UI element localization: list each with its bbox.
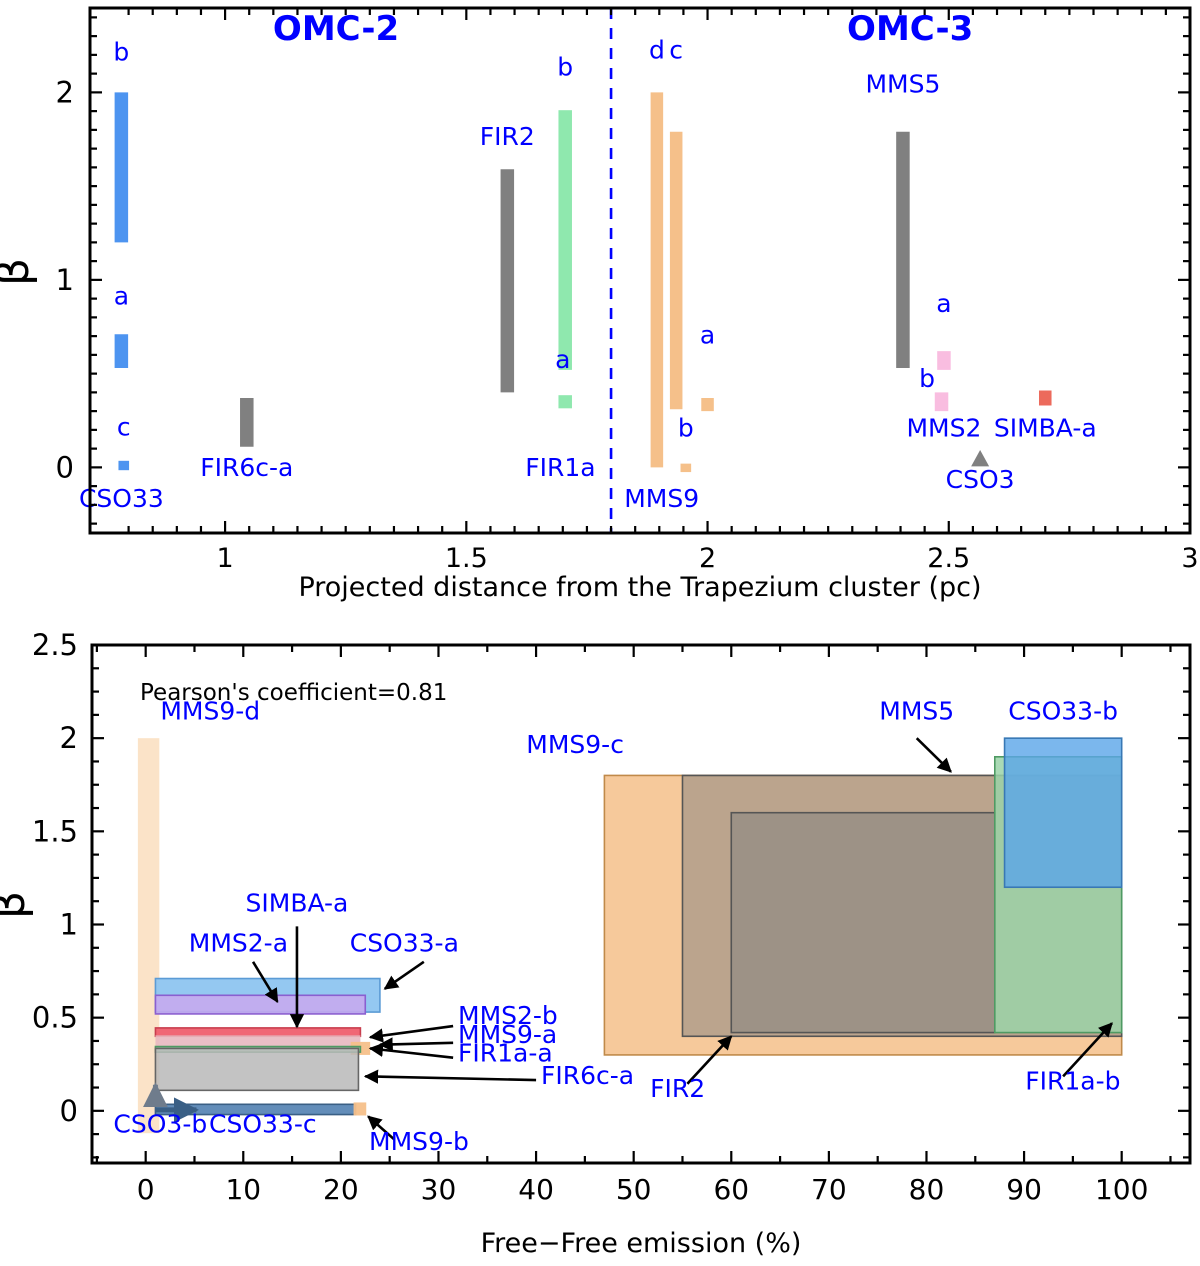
top-yticklabel: 1	[56, 263, 74, 297]
bottom-callout-label-mms5: MMS5	[879, 697, 954, 726]
bottom-xticklabel: 40	[518, 1173, 554, 1206]
top-component-label-2: c	[117, 413, 131, 442]
bottom-callout-label-mms9-c: MMS9-c	[526, 730, 624, 759]
top-component-label-3: b	[557, 53, 573, 82]
top-bar-fir1a-b	[558, 110, 572, 370]
top-component-label-9: a	[936, 289, 951, 318]
top-source-label-mms5: MMS5	[865, 69, 940, 98]
top-panel-xlabel: Projected distance from the Trapezium cl…	[298, 572, 981, 603]
top-source-label-cso3: CSO3	[946, 465, 1015, 494]
top-xticklabel: 1	[216, 543, 233, 574]
top-bar-cso33-b	[115, 92, 129, 242]
bottom-yticklabel: 1.5	[32, 814, 78, 848]
top-source-label-mms2: MMS2	[906, 413, 981, 442]
top-source-label-fir6c-a: FIR6c-a	[200, 453, 293, 482]
bottom-yticklabel: 2.5	[32, 628, 78, 662]
bottom-box-fir6c-a	[155, 1048, 358, 1090]
top-xticklabel: 2	[699, 543, 716, 574]
top-yticklabel: 2	[56, 75, 74, 109]
top-bar-cso33-c	[118, 461, 129, 470]
bottom-callout-label-fir1a-a: FIR1a-a	[458, 1038, 553, 1067]
top-panel-ylabel: β	[0, 258, 39, 286]
top-source-label-mms9: MMS9	[624, 484, 699, 513]
top-source-label-cso33: CSO33	[79, 484, 164, 513]
bottom-panel: MMS9-dMMS9-cMMS5CSO33-bSIMBA-aMMS2-aCSO3…	[0, 628, 1190, 1259]
top-bar-mms5	[896, 132, 910, 368]
bottom-box-cso33-b	[1005, 738, 1122, 887]
bottom-box-mms2-b	[155, 1035, 360, 1046]
top-component-label-8: b	[678, 413, 694, 442]
top-source-label-fir2: FIR2	[480, 122, 535, 151]
top-bar-mms9-c	[670, 132, 683, 410]
top-component-label-5: d	[649, 36, 665, 65]
figure-root: OMC-2OMC-3 CSO33FIR6c-aFIR1aFIR2MMS9MMS5…	[0, 0, 1200, 1266]
top-bar-simba-a	[1039, 391, 1052, 406]
bottom-callout-label-mms2-a: MMS2-a	[189, 929, 288, 958]
bottom-callout-label-cso33-a: CSO33-a	[350, 929, 459, 958]
top-component-label-4: a	[555, 345, 570, 374]
bottom-box-mms2-a	[155, 995, 365, 1014]
top-source-label-simba-a: SIMBA-a	[994, 413, 1097, 442]
region-label-omc-2: OMC-2	[273, 9, 399, 49]
bottom-yticklabel: 0	[60, 1094, 78, 1128]
bottom-callout-label-simba-a: SIMBA-a	[246, 888, 349, 917]
top-bar-mms9-b	[681, 464, 692, 472]
bottom-xticklabel: 100	[1095, 1173, 1148, 1206]
bottom-callout-label-fir1a-b: FIR1a-b	[1025, 1066, 1120, 1095]
bottom-xticklabel: 60	[713, 1173, 749, 1206]
bottom-callout-label-mms9-b: MMS9-b	[369, 1127, 469, 1156]
bottom-yticklabel: 1	[60, 907, 78, 941]
bottom-xticklabel: 90	[1006, 1173, 1042, 1206]
bottom-panel-xlabel: Free−Free emission (%)	[481, 1228, 802, 1259]
bottom-xticklabel: 20	[323, 1173, 359, 1206]
top-component-label-10: b	[919, 364, 935, 393]
top-component-label-6: c	[669, 36, 683, 65]
bottom-yticklabel: 2	[60, 721, 78, 755]
bottom-panel-ylabel: β	[0, 891, 35, 919]
bottom-box-fir2	[731, 813, 995, 1033]
top-panel: OMC-2OMC-3 CSO33FIR6c-aFIR1aFIR2MMS9MMS5…	[0, 8, 1199, 603]
top-bar-fir1a-a	[558, 395, 572, 408]
bottom-callout-label-fir2: FIR2	[650, 1074, 705, 1103]
scientific-figure: OMC-2OMC-3 CSO33FIR6c-aFIR1aFIR2MMS9MMS5…	[0, 0, 1200, 1266]
top-source-label-fir1a: FIR1a	[525, 453, 595, 482]
top-bar-fir2	[501, 169, 515, 392]
top-bar-cso33-a	[115, 334, 129, 368]
top-xticklabel: 2.5	[927, 543, 970, 574]
top-bar-mms2-a	[937, 351, 951, 370]
bottom-xticklabel: 80	[909, 1173, 945, 1206]
bottom-callout-label-cso3-b: CSO3-b	[113, 1109, 207, 1138]
bottom-xticklabel: 70	[811, 1173, 847, 1206]
top-bar-fir6c-a	[240, 398, 254, 447]
bottom-yticklabel: 0.5	[32, 1001, 78, 1035]
pearson-coefficient-annotation: Pearson's coefficient=0.81	[140, 680, 447, 706]
top-component-label-1: a	[114, 281, 129, 310]
region-label-omc-3: OMC-3	[847, 9, 973, 49]
top-xticklabel: 1.5	[445, 543, 488, 574]
bottom-xticklabel: 50	[616, 1173, 652, 1206]
bottom-xticklabel: 10	[225, 1173, 261, 1206]
top-component-label-0: b	[113, 38, 129, 67]
top-xticklabel: 3	[1181, 543, 1198, 574]
top-component-label-7: a	[700, 321, 715, 350]
top-bar-mms2-b	[935, 392, 949, 411]
bottom-xticklabel: 30	[421, 1173, 457, 1206]
bottom-box-simba-a	[155, 1028, 360, 1036]
bottom-box-mms9-b	[354, 1102, 367, 1115]
bottom-xticklabel: 0	[137, 1173, 155, 1206]
top-bar-mms9-a	[701, 398, 714, 411]
top-yticklabel: 0	[56, 450, 74, 484]
bottom-callout-label-fir6c-a: FIR6c-a	[541, 1061, 634, 1090]
bottom-callout-label-cso33-b: CSO33-b	[1008, 697, 1118, 726]
bottom-callout-label-cso33-c: CSO33-c	[209, 1109, 317, 1138]
top-bar-mms9-d	[651, 92, 664, 467]
